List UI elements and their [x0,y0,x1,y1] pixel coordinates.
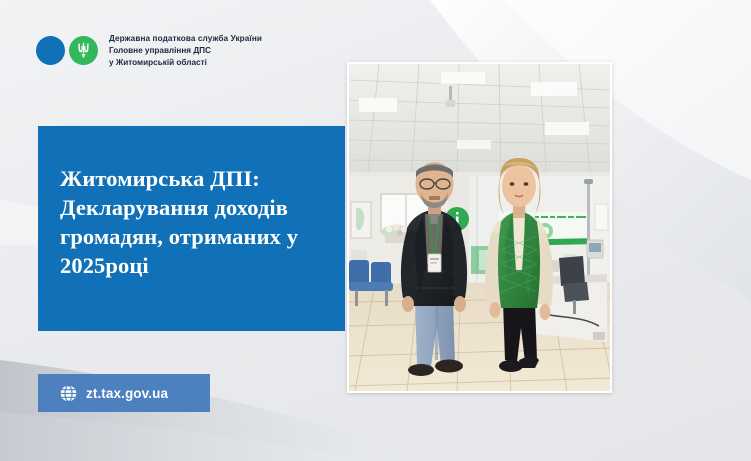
headline-line-3: громадян, отриманих у [60,222,323,251]
globe-icon [60,385,77,402]
headline-line-1: Житомирська ДПІ: [60,164,323,193]
blue-circle-icon [36,36,65,65]
organization-name-block: Державна податкова служба України Головн… [109,32,262,68]
headline-panel: Житомирська ДПІ: Декларування доходів гр… [38,126,345,331]
logo-marks [36,36,98,65]
office-photograph [349,64,610,391]
photo-illustration [349,64,610,391]
website-url-badge[interactable]: zt.tax.gov.ua [38,374,210,412]
organization-logo: Державна податкова служба України Головн… [36,32,262,68]
headline-line-4: 2025році [60,251,323,280]
trident-icon [76,42,91,59]
website-url-label: zt.tax.gov.ua [86,386,168,401]
photo-frame [347,62,612,393]
org-name-line-3: у Житомирській області [109,57,262,69]
infographic-page: Державна податкова служба України Головн… [0,0,751,461]
headline-line-2: Декларування доходів [60,193,323,222]
org-name-line-1: Державна податкова служба України [109,32,262,45]
org-name-line-2: Головне управління ДПС [109,45,262,57]
green-circle-trident-icon [69,36,98,65]
